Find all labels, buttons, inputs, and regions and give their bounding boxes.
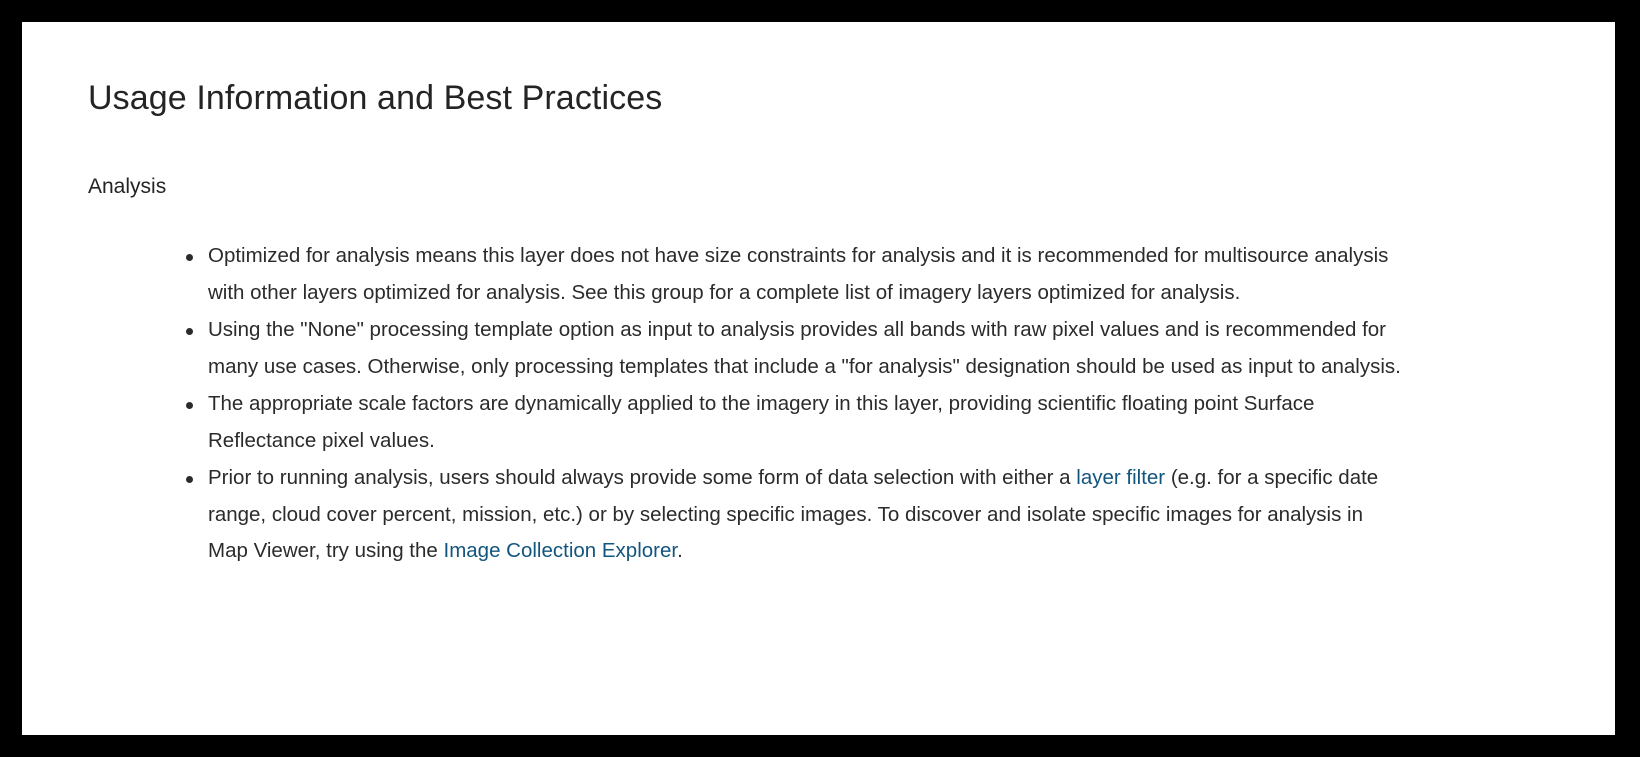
- bullet-dot-icon: [186, 460, 195, 497]
- bullet-dot-icon: [186, 312, 195, 349]
- list-item: The appropriate scale factors are dynami…: [186, 386, 1403, 459]
- list-item: Prior to running analysis, users should …: [186, 460, 1403, 570]
- image-collection-explorer-link[interactable]: Image Collection Explorer: [444, 539, 678, 562]
- section-heading-analysis: Analysis: [88, 172, 1555, 202]
- usage-bullet-list: Optimized for analysis means this layer …: [88, 238, 1555, 570]
- document-content: Usage Information and Best Practices Ana…: [22, 22, 1615, 570]
- page-title: Usage Information and Best Practices: [88, 66, 1555, 120]
- bullet-dot-icon: [186, 386, 195, 423]
- paragraph-text: Prior to running analysis, users should …: [208, 466, 1076, 489]
- paragraph-text: .: [677, 539, 683, 562]
- paragraph-text: Optimized for analysis means this layer …: [208, 244, 1394, 304]
- paragraph-text: Using the "None" processing template opt…: [208, 318, 1401, 378]
- document-frame: Usage Information and Best Practices Ana…: [22, 22, 1615, 735]
- paragraph-text: The appropriate scale factors are dynami…: [208, 392, 1320, 452]
- bullet-dot-icon: [186, 238, 195, 275]
- layer-filter-link[interactable]: layer filter: [1076, 466, 1165, 489]
- list-item: Using the "None" processing template opt…: [186, 312, 1403, 385]
- list-item: Optimized for analysis means this layer …: [186, 238, 1403, 311]
